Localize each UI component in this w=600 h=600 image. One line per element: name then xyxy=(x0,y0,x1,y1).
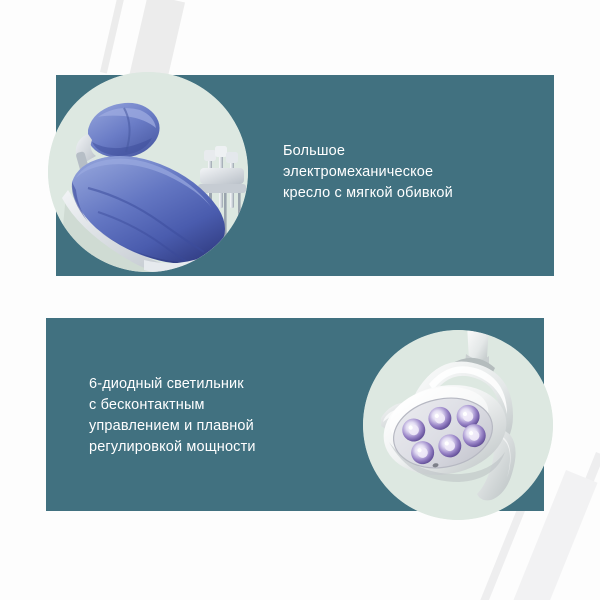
feature-text-lamp: 6-диодный светильник с бесконтактным упр… xyxy=(89,374,339,458)
feature-text-chair: Большое электромеханическое кресло с мяг… xyxy=(283,141,533,204)
medallion-chair xyxy=(48,72,248,272)
medallion-lamp xyxy=(363,330,553,520)
diagonal-stripe-top-left-thin xyxy=(100,0,125,74)
feature-slide: Большое электромеханическое кресло с мяг… xyxy=(0,0,600,600)
dental-led-lamp-photo xyxy=(363,330,553,520)
dental-chair-photo xyxy=(48,72,248,272)
